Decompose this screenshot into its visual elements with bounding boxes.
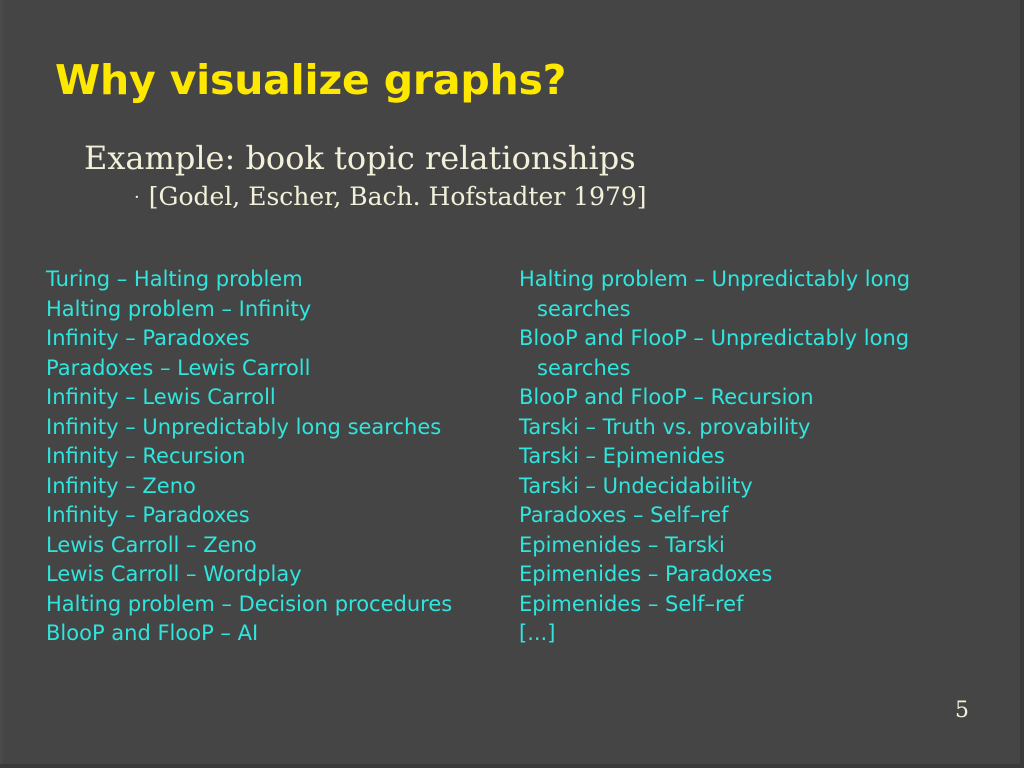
edge-list-item: Epimenides – Paradoxes [519, 560, 944, 590]
bullet-dot-icon: · [134, 182, 140, 213]
slide-left-edge-shading [0, 0, 3, 768]
edge-list-item: [...] [519, 619, 944, 649]
edge-list-item: Turing – Halting problem [46, 265, 506, 295]
edge-list-item: Infinity – Unpredictably long searches [46, 413, 506, 443]
page-number: 5 [955, 698, 969, 724]
edge-list-item: Epimenides – Self–ref [519, 590, 944, 620]
edge-list-item: Tarski – Undecidability [519, 472, 944, 502]
slide-citation-text: [Godel, Escher, Bach. Hofstadter 1979] [149, 182, 647, 211]
edge-list-right-column: Halting problem – Unpredictably long sea… [519, 265, 944, 649]
edge-list-item: Epimenides – Tarski [519, 531, 944, 561]
edge-list-item: Infinity – Recursion [46, 442, 506, 472]
edge-list-item: Halting problem – Unpredictably long sea… [519, 265, 944, 324]
edge-list-item: BlooP and FlooP – Recursion [519, 383, 944, 413]
edge-list-item: Infinity – Zeno [46, 472, 506, 502]
slide-title: Why visualize graphs? [55, 55, 566, 105]
edge-list-item: Lewis Carroll – Wordplay [46, 560, 506, 590]
edge-list-item: Tarski – Epimenides [519, 442, 944, 472]
slide-citation-line: ·[Godel, Escher, Bach. Hofstadter 1979] [84, 181, 944, 213]
edge-list-item: BlooP and FlooP – AI [46, 619, 506, 649]
edge-list-item: Lewis Carroll – Zeno [46, 531, 506, 561]
slide-subtitle: Example: book topic relationships [84, 138, 944, 178]
edge-list-item: Paradoxes – Lewis Carroll [46, 354, 506, 384]
edge-list-item: Infinity – Paradoxes [46, 501, 506, 531]
edge-list-item: Halting problem – Infinity [46, 295, 506, 325]
edge-list-item: Tarski – Truth vs. provability [519, 413, 944, 443]
slide-canvas: Why visualize graphs? Example: book topi… [0, 0, 1024, 768]
edge-list-item: Halting problem – Decision procedures [46, 590, 506, 620]
slide-subtitle-block: Example: book topic relationships ·[Gode… [84, 138, 944, 213]
edge-list-item: BlooP and FlooP – Unpredictably long sea… [519, 324, 944, 383]
slide-bottom-edge-shading [0, 764, 1024, 768]
edge-list-item: Paradoxes – Self–ref [519, 501, 944, 531]
slide-right-edge-shading [1020, 0, 1024, 768]
edge-list-left-column: Turing – Halting problemHalting problem … [46, 265, 506, 649]
edge-list-item: Infinity – Lewis Carroll [46, 383, 506, 413]
edge-list-item: Infinity – Paradoxes [46, 324, 506, 354]
